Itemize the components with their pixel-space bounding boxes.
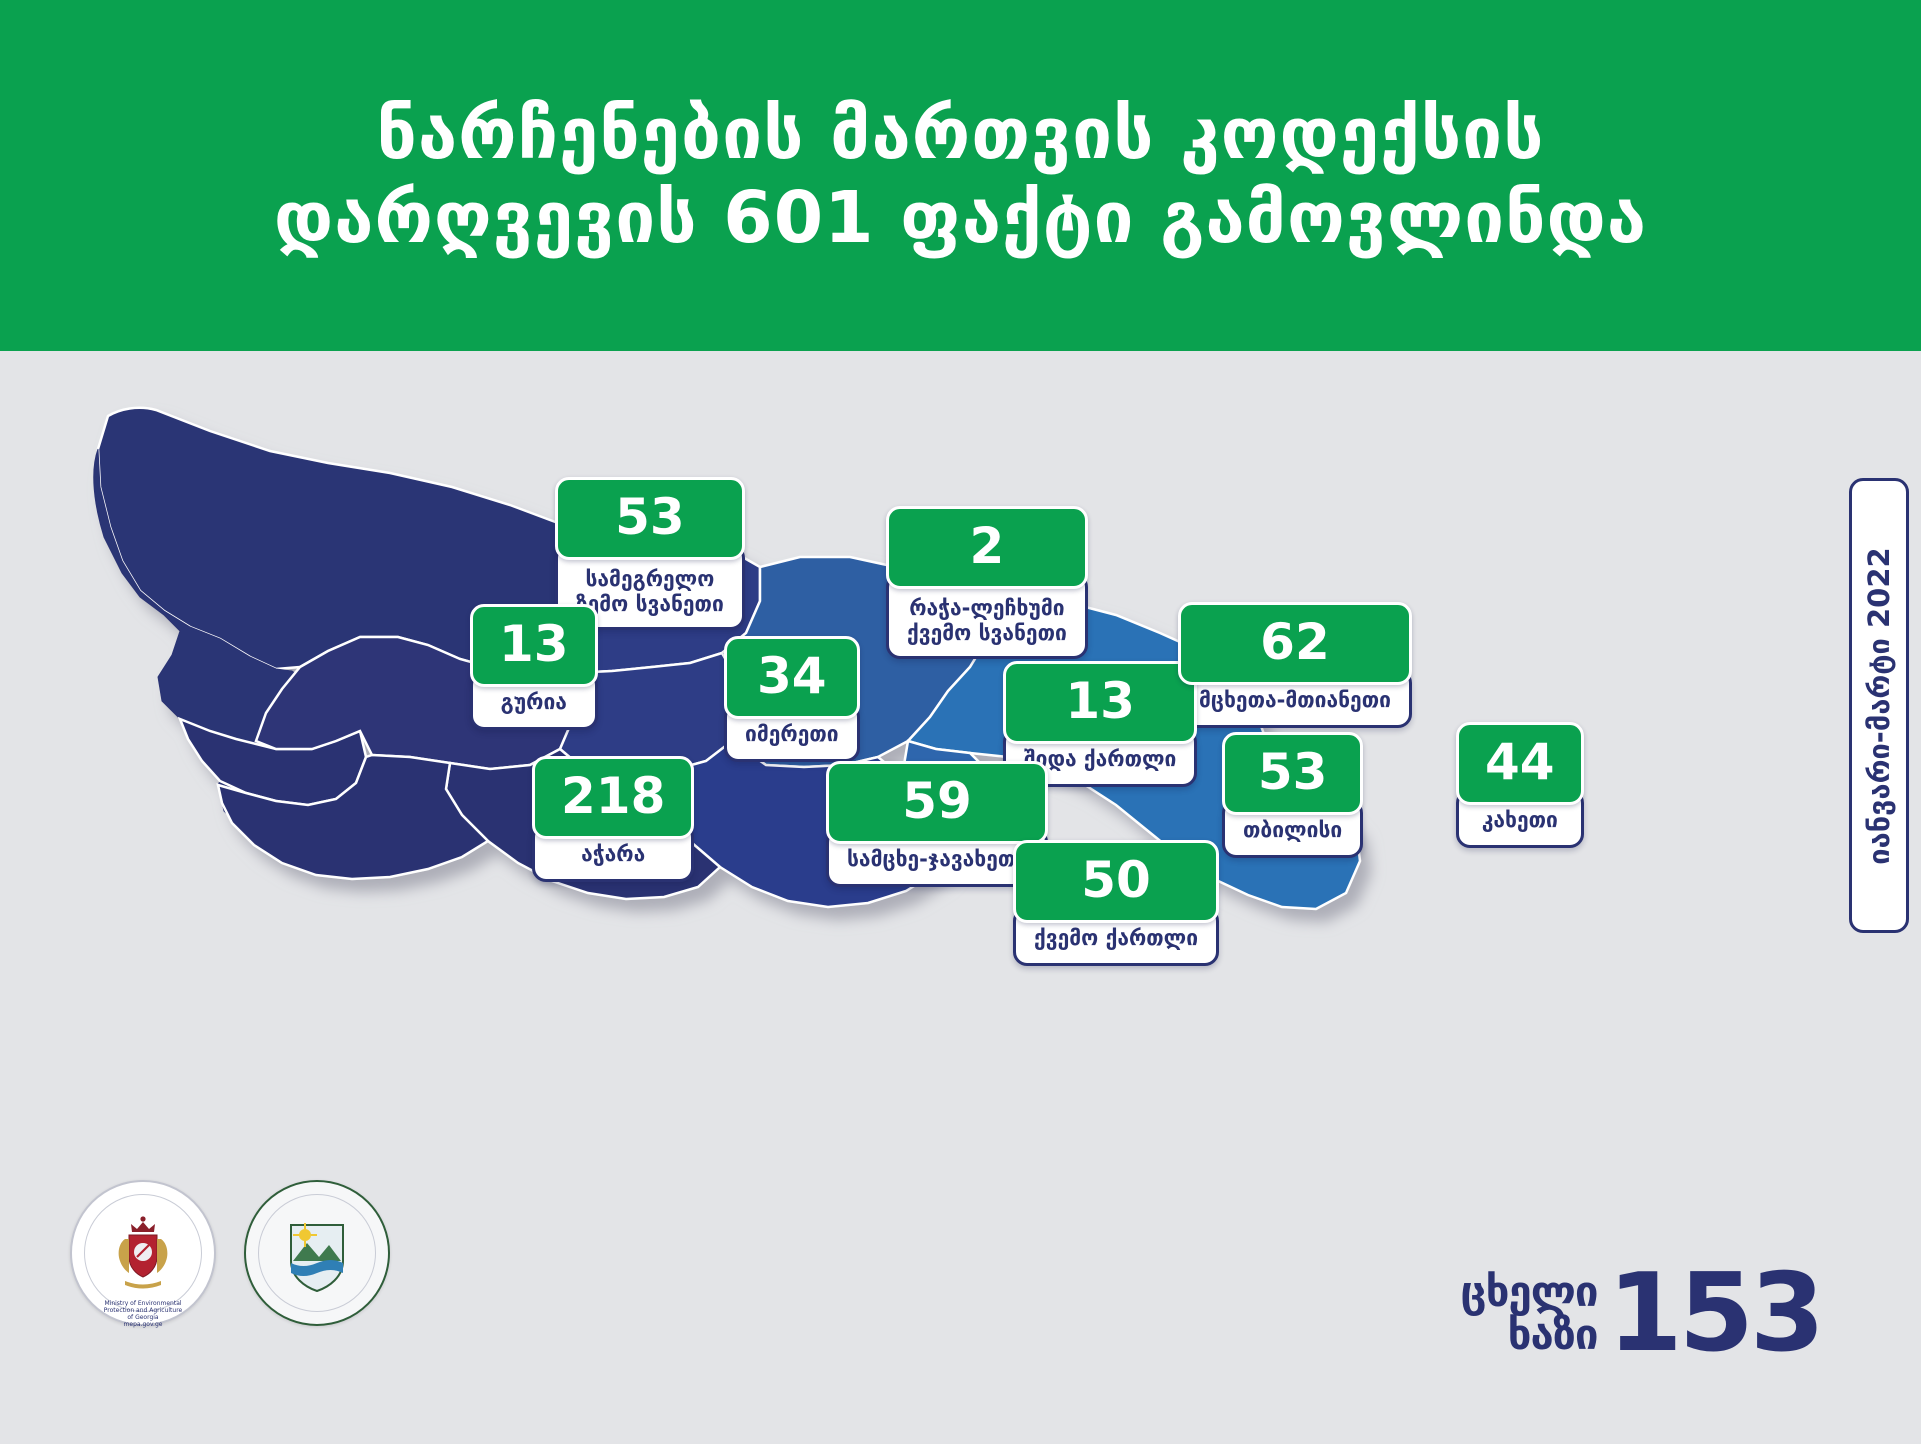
pin-value: 34: [724, 636, 860, 719]
pin-value: 50: [1013, 840, 1219, 923]
georgia-coat-of-arms-icon: [95, 1205, 191, 1301]
hotline-number: 153: [1608, 1265, 1821, 1362]
hotline-word-line-2: ხაზი: [1460, 1314, 1597, 1357]
emblem-caption-en-line1: Ministry of Environmental: [70, 1300, 216, 1307]
map-pin-adjara[interactable]: 218 აჭარა: [532, 756, 694, 882]
hotline-block: ცხელი ხაზი 153: [1460, 1265, 1821, 1362]
map-pin-racha-lechkhumi-kvemo-svaneti[interactable]: 2 რაჭა-ლეჩხუმი ქვემო სვანეთი: [886, 506, 1088, 659]
emblems-group: Ministry of Environmental Protection and…: [70, 1180, 390, 1326]
pin-value: 44: [1456, 722, 1584, 805]
map-pin-imereti[interactable]: 34 იმერეთი: [724, 636, 860, 762]
pin-value: 13: [1003, 661, 1197, 744]
emblem-caption-url: mepa.gov.ge: [70, 1321, 216, 1328]
pin-value: 2: [886, 506, 1088, 589]
page-title-line-1: ნარჩენების მართვის კოდექსის: [376, 92, 1544, 176]
map-pin-tbilisi[interactable]: 53 თბილისი: [1222, 732, 1363, 858]
emblem-caption-en-line3: of Georgia: [70, 1314, 216, 1321]
pin-value: 62: [1178, 602, 1412, 685]
emblem-caption-en-line2: Protection and Agriculture: [70, 1307, 216, 1314]
pin-value: 218: [532, 756, 694, 839]
date-range-tab: იანვარი-მარტი 2022: [1849, 478, 1909, 933]
map-pin-mtskheta-mtianeti[interactable]: 62 მცხეთა-მთიანეთი: [1178, 602, 1412, 728]
environmental-supervision-shield-icon: [269, 1205, 365, 1301]
map-pin-kvemo-kartli[interactable]: 50 ქვემო ქართლი: [1013, 840, 1219, 966]
header-band: ნარჩენების მართვის კოდექსის დარღვევის 60…: [0, 0, 1921, 351]
pin-value: 53: [555, 477, 745, 560]
emblem-ministry-of-environmental-protection: Ministry of Environmental Protection and…: [70, 1180, 216, 1326]
map-pin-guria[interactable]: 13 გურია: [470, 604, 598, 730]
pin-value: 13: [470, 604, 598, 687]
hotline-word-line-1: ცხელი: [1460, 1271, 1597, 1314]
page-title-line-2: დარღვევის 601 ფაქტი გამოვლინდა: [274, 176, 1647, 260]
pin-value: 59: [826, 761, 1048, 844]
hotline-words: ცხელი ხაზი: [1460, 1271, 1597, 1357]
pin-value: 53: [1222, 732, 1363, 815]
map-pin-kakheti[interactable]: 44 კახეთი: [1456, 722, 1584, 848]
emblem-department-of-environmental-supervision: [244, 1180, 390, 1326]
date-range-label: იანვარი-მარტი 2022: [1862, 547, 1896, 864]
emblem-caption-en: Ministry of Environmental Protection and…: [70, 1300, 216, 1328]
